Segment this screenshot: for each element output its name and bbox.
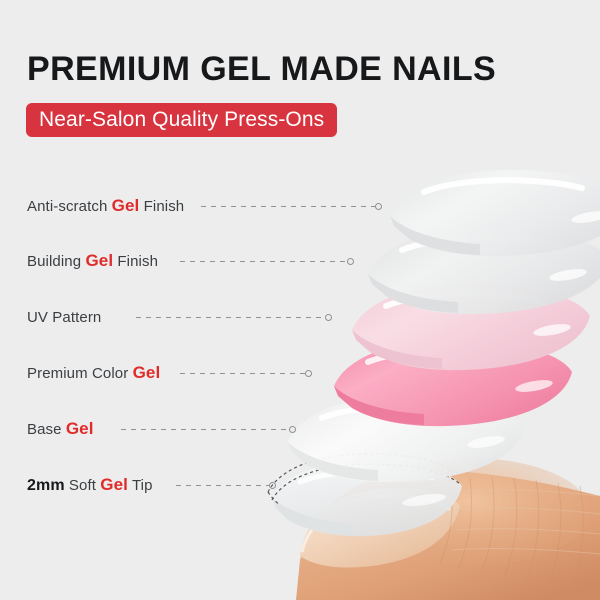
callout-label: Premium Color Gel (27, 363, 160, 383)
leader-endpoint-dot (305, 370, 312, 377)
layer-anti-scratch-gel-finish (390, 170, 600, 256)
leader-line-uv-pattern (136, 306, 332, 328)
callout-row-soft-gel-tip: 2mm Soft Gel Tip (27, 474, 153, 496)
leader-endpoint-dot (289, 426, 296, 433)
callout-label: Anti-scratch Gel Finish (27, 196, 184, 216)
layer-building-gel-finish (368, 228, 600, 314)
leader-line-building-gel-finish (180, 250, 354, 272)
finger-illustration (296, 458, 600, 600)
layer-soft-gel-tip (268, 454, 462, 536)
leader-endpoint-dot (375, 203, 382, 210)
layer-uv-pattern (352, 284, 590, 370)
leader-line-anti-scratch-gel-finish (201, 195, 382, 217)
leader-dash (180, 261, 348, 262)
leader-line-premium-color-gel (180, 362, 312, 384)
gel-nail-layers-illustration (0, 0, 600, 600)
leader-dash (136, 317, 326, 318)
callout-row-anti-scratch-gel-finish: Anti-scratch Gel Finish (27, 195, 184, 217)
leader-dash (180, 373, 306, 374)
page-title: PREMIUM GEL MADE NAILS (27, 52, 496, 86)
callout-row-uv-pattern: UV Pattern (27, 306, 101, 328)
leader-endpoint-dot (325, 314, 332, 321)
leader-dash (121, 429, 290, 430)
leader-line-soft-gel-tip (176, 474, 276, 496)
callout-row-premium-color-gel: Premium Color Gel (27, 362, 160, 384)
callout-label: UV Pattern (27, 309, 101, 326)
callout-label: Building Gel Finish (27, 251, 158, 271)
leader-endpoint-dot (269, 482, 276, 489)
callout-label: 2mm Soft Gel Tip (27, 475, 153, 495)
infographic-canvas: PREMIUM GEL MADE NAILS Near-Salon Qualit… (0, 0, 600, 600)
leader-dash (201, 206, 376, 207)
callout-label: Base Gel (27, 419, 94, 439)
leader-line-base-gel (121, 418, 296, 440)
leader-endpoint-dot (347, 258, 354, 265)
leader-dash (176, 485, 270, 486)
layer-premium-color-gel (334, 340, 572, 426)
layer-base-gel (288, 396, 524, 482)
callout-row-building-gel-finish: Building Gel Finish (27, 250, 158, 272)
callout-row-base-gel: Base Gel (27, 418, 94, 440)
status-badge: Near-Salon Quality Press-Ons (26, 103, 337, 137)
